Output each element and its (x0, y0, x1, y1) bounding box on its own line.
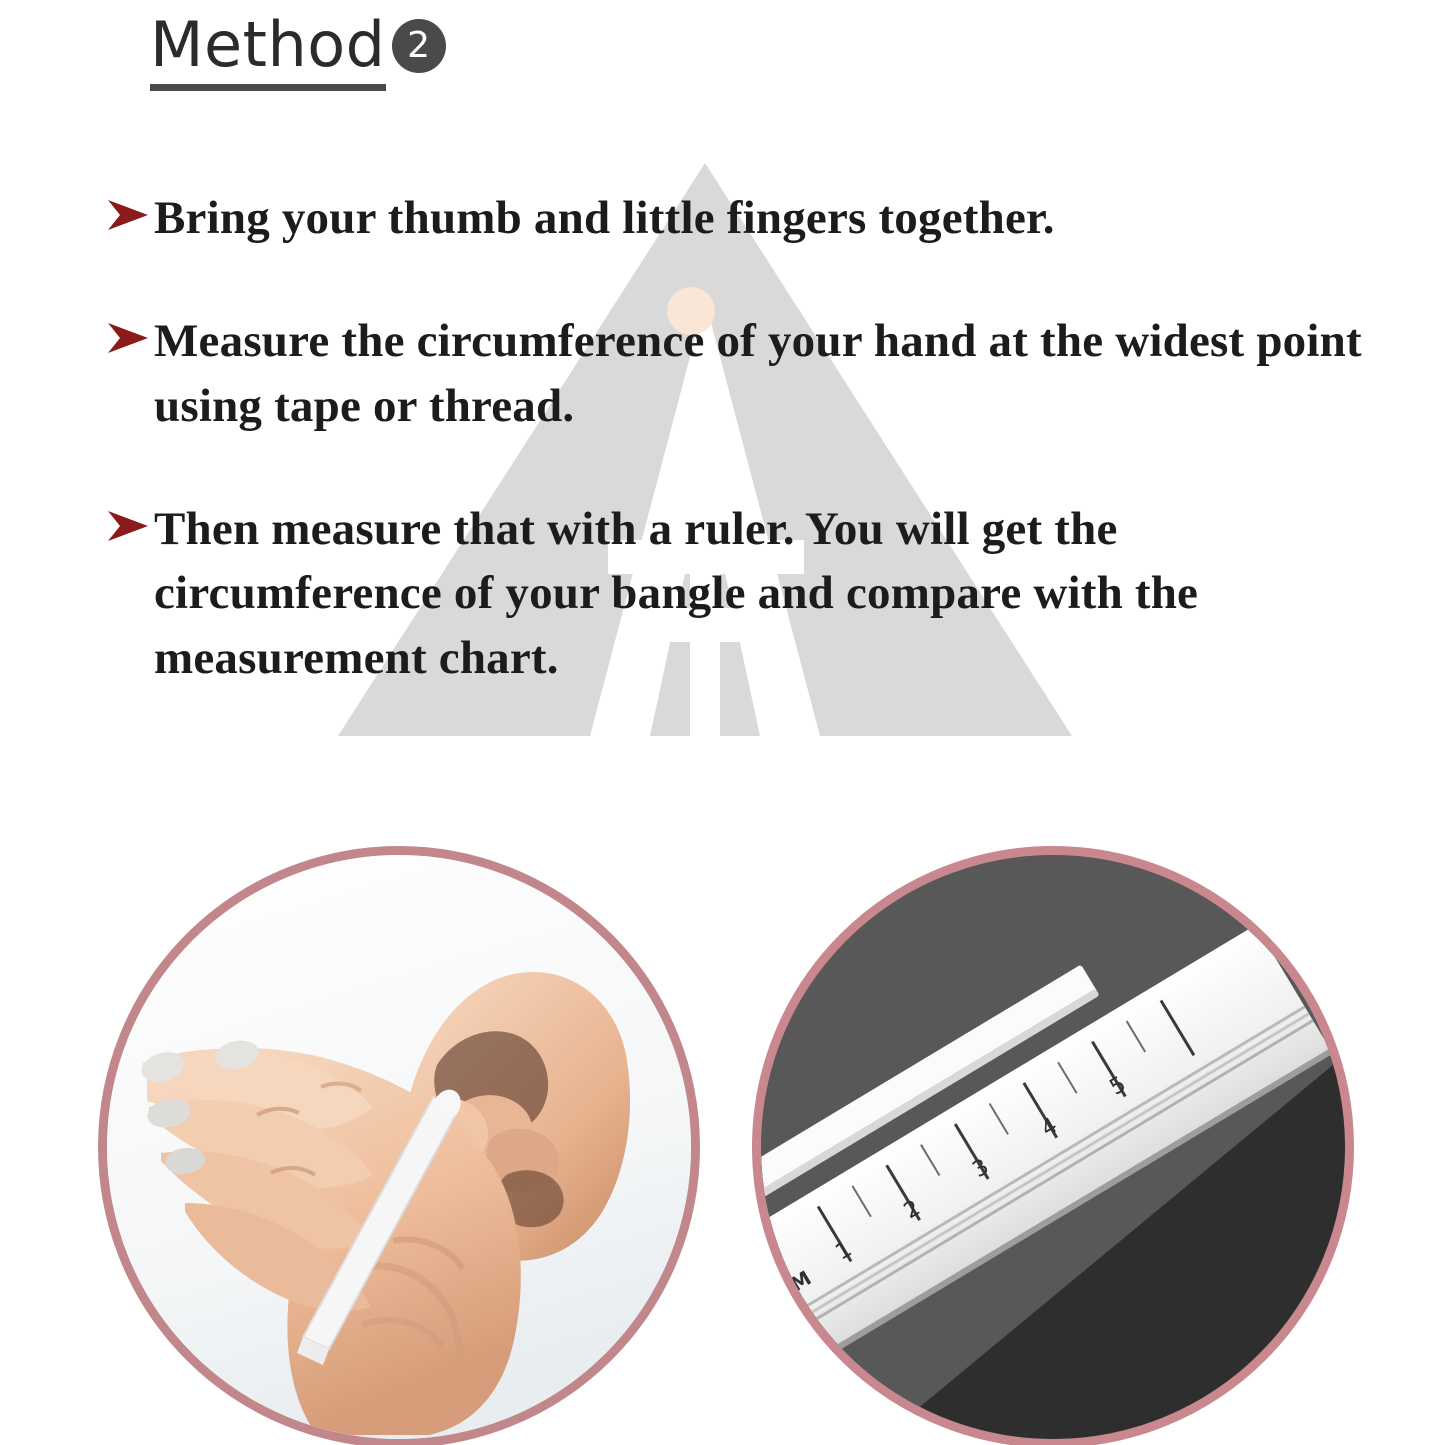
instruction-text: Measure the circumference of your hand a… (154, 309, 1386, 439)
list-item: Measure the circumference of your hand a… (106, 309, 1386, 439)
measurement-guide-page: Method 2 Bring your thumb and little fin… (0, 0, 1445, 1445)
instruction-text: Then measure that with a ruler. You will… (154, 497, 1386, 692)
instruction-text: Bring your thumb and little fingers toge… (154, 186, 1055, 251)
list-item: Bring your thumb and little fingers toge… (106, 186, 1386, 251)
arrow-bullet-icon (106, 321, 154, 355)
arrow-bullet-icon (106, 198, 154, 232)
page-title-text: Method (150, 14, 386, 91)
figure-hand-measure (98, 846, 700, 1445)
arrow-bullet-icon (106, 509, 154, 543)
page-title: Method 2 (150, 14, 446, 91)
circled-number-two-icon: 2 (392, 19, 446, 73)
list-item: Then measure that with a ruler. You will… (106, 497, 1386, 692)
instruction-list: Bring your thumb and little fingers toge… (106, 186, 1386, 749)
figure-ruler-measure: 1 2 3 4 5 CM (752, 846, 1354, 1445)
